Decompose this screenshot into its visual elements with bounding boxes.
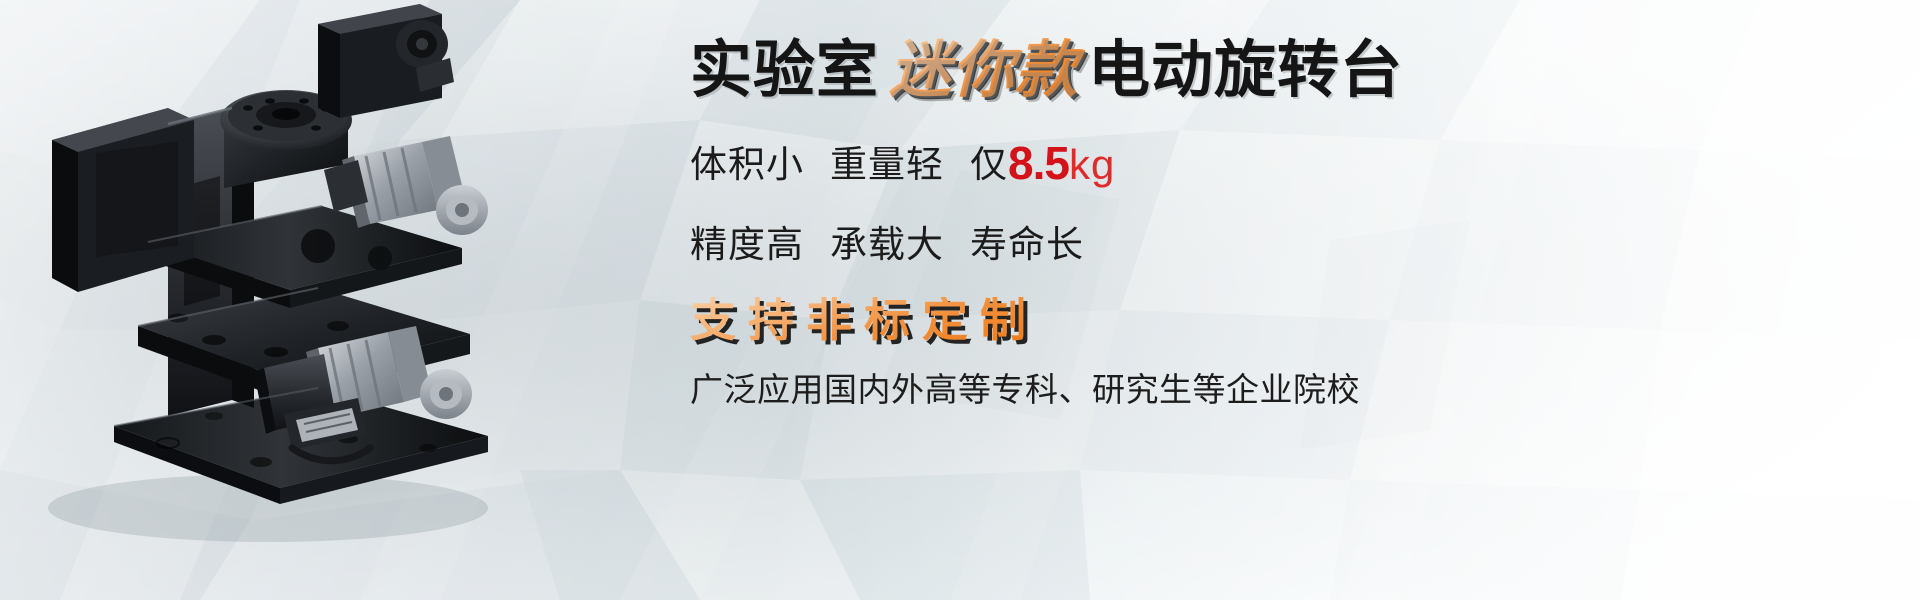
custom-badge: 支持非标定制: [690, 297, 1038, 343]
headline: 实验室迷你款电动旋转台: [690, 40, 1870, 102]
spec-lifetime: 寿命长: [970, 224, 1084, 265]
spec-only: 仅: [970, 144, 1008, 185]
spec-line-1: 体积小重量轻仅8.5kg: [690, 140, 1870, 186]
promo-banner: 实验室迷你款电动旋转台 体积小重量轻仅8.5kg 精度高承载大寿命长 支持非标定…: [0, 0, 1920, 600]
product-photo: [18, 0, 578, 596]
spec-line-2: 精度高承载大寿命长: [690, 226, 1870, 263]
spec-load: 承载大: [830, 224, 944, 265]
rotary-stage-illustration: [18, 0, 578, 596]
spec-weight-unit: kg: [1069, 141, 1115, 188]
headline-accent: 迷你款: [879, 36, 1088, 105]
custom-badge-row: 支持非标定制: [690, 263, 1870, 343]
headline-suffix: 电动旋转台: [1088, 36, 1403, 105]
copy-block: 实验室迷你款电动旋转台 体积小重量轻仅8.5kg 精度高承载大寿命长 支持非标定…: [690, 24, 1870, 576]
spec-size: 体积小: [690, 144, 804, 185]
footnote: 广泛应用国内外高等专科、研究生等企业院校: [690, 373, 1870, 406]
headline-prefix: 实验室: [690, 36, 879, 105]
spec-weight: 重量轻: [830, 144, 944, 185]
spec-precision: 精度高: [690, 224, 804, 265]
spec-weight-value: 8.5: [1008, 137, 1069, 189]
